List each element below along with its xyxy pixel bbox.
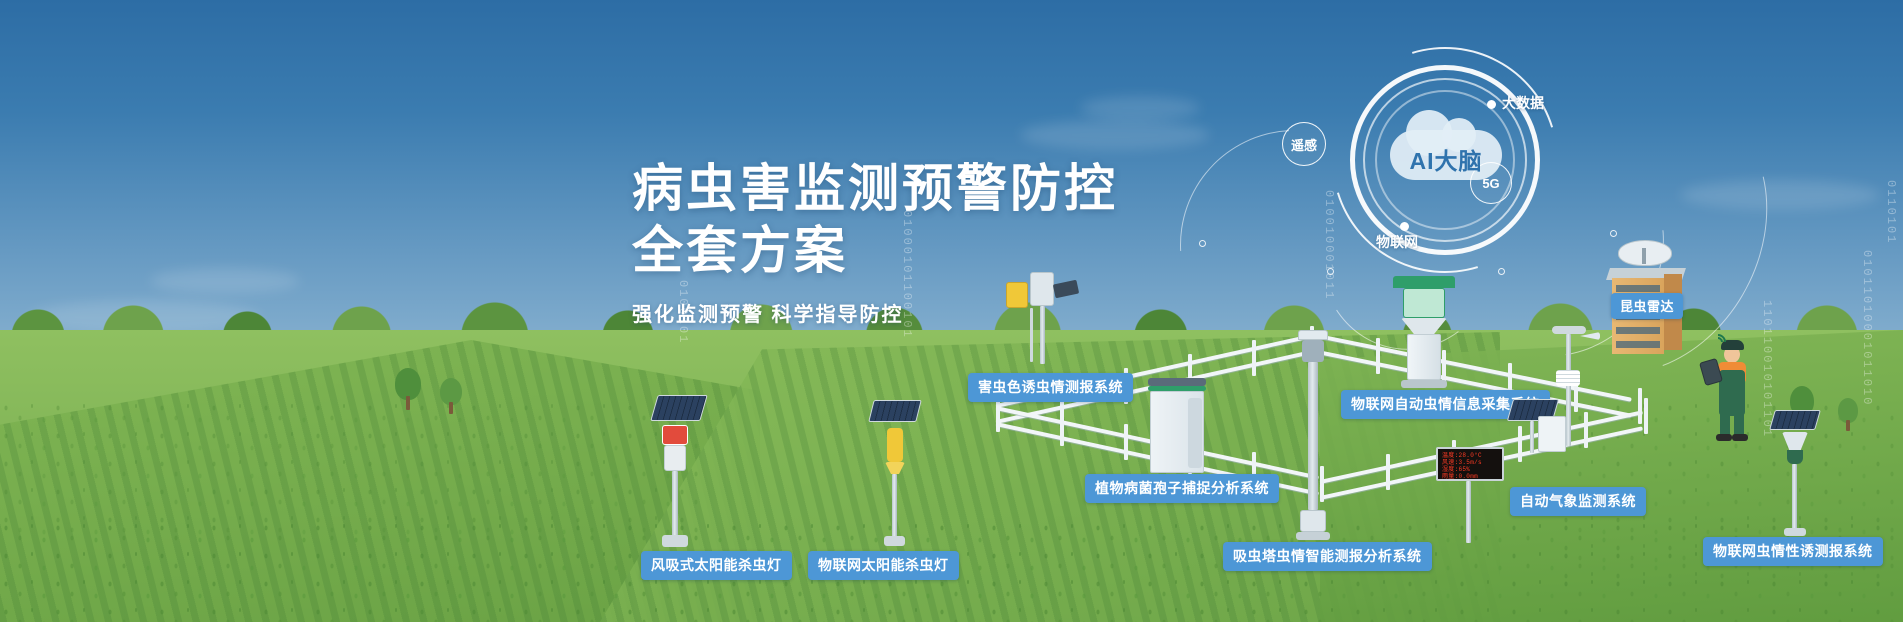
field-worker: [1702, 338, 1762, 448]
tower-column: [1308, 362, 1318, 510]
connector-endpoint: [1327, 268, 1334, 275]
trap-pole: [1792, 464, 1797, 530]
trap-collection-cup: [1787, 450, 1803, 464]
led-board-pole: [1466, 481, 1471, 543]
connector-endpoint: [1610, 230, 1617, 237]
binary-decor: 01000101100101: [900, 210, 914, 330]
trap-solar-panel: [1769, 410, 1821, 430]
collector-base: [1401, 380, 1447, 388]
tower-base: [1296, 532, 1330, 540]
spore-cabinet-top: [1148, 378, 1206, 386]
weather-mast: [1566, 334, 1571, 446]
worker-boot-left: [1716, 434, 1732, 441]
device-suction-tower: [1290, 330, 1340, 550]
label-insect-radar[interactable]: 昆虫雷达: [1611, 293, 1683, 319]
lamp-collector: [664, 445, 686, 471]
trap-sticky-card: [1006, 282, 1028, 308]
solar-panel: [868, 400, 921, 422]
binary-decor: 0100101: [676, 280, 690, 360]
device-pest-color-trap: [1000, 272, 1090, 372]
tower-intake: [1302, 340, 1324, 362]
lamp-head: [662, 425, 688, 445]
trap-camera-body: [1030, 272, 1054, 306]
worker-leg-right: [1734, 410, 1744, 436]
connector-endpoint: [1199, 240, 1206, 247]
weather-panel-pole: [1530, 421, 1534, 453]
trap-ladder: [1030, 308, 1033, 362]
binary-decor: 0110101: [1884, 180, 1898, 270]
solar-panel: [650, 395, 707, 421]
collector-canopy: [1393, 276, 1455, 288]
binary-decor: 01011010001011010: [1860, 250, 1874, 410]
brain-node-dot-big-data[interactable]: [1487, 100, 1496, 109]
led-display-board: 温度:28.0°C 风速:3.5m/s 湿度:65% 雨量:0.0mm: [1436, 447, 1504, 481]
lamp-funnel: [885, 462, 905, 474]
ai-brain-label: AI大脑: [1390, 142, 1502, 176]
anemometer-cups: [1552, 326, 1586, 334]
label-iot-solar-lamp[interactable]: 物联网太阳能杀虫灯: [808, 551, 959, 580]
trap-funnel-body: [1782, 432, 1808, 450]
lamp-pole: [892, 474, 897, 538]
hero-banner: 病虫害监测预警防控 全套方案 强化监测预警 科学指导防控 01000101100…: [0, 0, 1903, 622]
cloud-blob: [1020, 120, 1210, 150]
worker-leg-left: [1720, 410, 1730, 436]
lamp-housing: [887, 428, 903, 462]
device-wind-suction-lamp: [640, 395, 720, 555]
lamp-pole: [672, 471, 678, 537]
collector-funnel: [1401, 318, 1447, 334]
led-line: 温度:28.0°C: [1442, 452, 1498, 459]
radar-dish: [1618, 240, 1672, 270]
led-line: 湿度:65%: [1442, 466, 1498, 473]
trap-base: [1784, 528, 1806, 536]
label-auto-weather[interactable]: 自动气象监测系统: [1510, 487, 1646, 516]
label-suction-tower[interactable]: 吸虫塔虫情智能测报分析系统: [1223, 542, 1432, 571]
label-iot-pheromone-trap[interactable]: 物联网虫情性诱测报系统: [1703, 537, 1883, 566]
worker-boot-right: [1732, 434, 1748, 441]
trap-lens: [1053, 280, 1079, 299]
lamp-base: [884, 536, 905, 546]
page-title-line-1: 病虫害监测预警防控: [632, 158, 1118, 220]
device-iot-pheromone-trap: [1760, 410, 1840, 545]
weather-cabinet: [1538, 416, 1566, 452]
trap-pole: [1040, 306, 1045, 364]
device-spore-capture: [1148, 378, 1208, 488]
led-line: 雨量:0.0mm: [1442, 473, 1498, 480]
tower-collection-bin: [1300, 510, 1326, 532]
tower-cap: [1298, 330, 1328, 340]
led-line: 风速:3.5m/s: [1442, 459, 1498, 466]
lamp-base: [662, 535, 688, 547]
connector-endpoint: [1498, 268, 1505, 275]
label-spore-capture[interactable]: 植物病菌孢子捕捉分析系统: [1085, 474, 1279, 503]
collector-lamp-cage: [1403, 288, 1445, 318]
device-iot-solar-lamp: [865, 400, 935, 550]
label-wind-suction-lamp[interactable]: 风吸式太阳能杀虫灯: [641, 551, 792, 580]
brain-node-label-big-data: 大数据: [1502, 93, 1544, 113]
spore-cabinet-door: [1188, 398, 1202, 468]
collector-cabinet: [1407, 334, 1441, 380]
crop-texture-midleft: [0, 400, 700, 540]
cloud-blob: [1080, 96, 1200, 120]
device-iot-auto-pest-collect: [1385, 276, 1465, 396]
radiation-shield: [1556, 370, 1580, 386]
label-pest-color-trap[interactable]: 害虫色诱虫情测报系统: [968, 373, 1133, 402]
